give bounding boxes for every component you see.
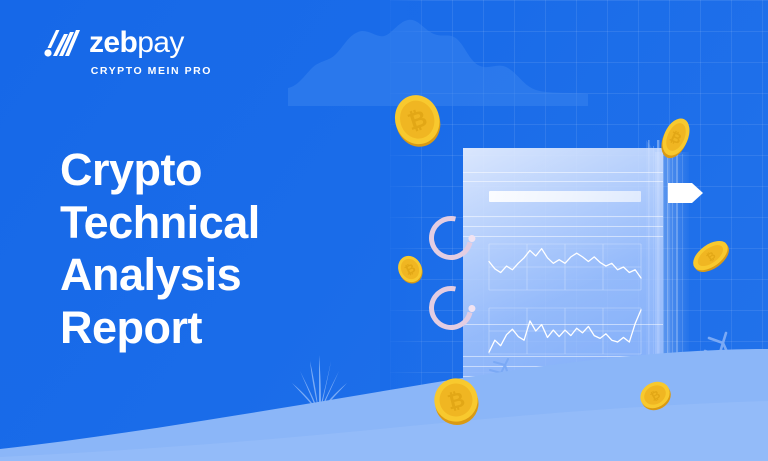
- zebpay-report-banner: ₿ ₿ ₿ ₿ ₿: [0, 0, 768, 461]
- bitcoin-coin-mid-left: ₿: [390, 249, 430, 289]
- upper-trend-chart: [489, 244, 641, 290]
- headline-line-2: Technical: [60, 197, 260, 250]
- document-title-bar: [489, 191, 641, 202]
- headline-line-3: Analysis: [60, 249, 260, 302]
- zebpay-tagline: CRYPTO MEIN PRO: [44, 65, 214, 77]
- cloud-silhouette: [288, 6, 588, 106]
- headline-line-4: Report: [60, 302, 260, 355]
- logo-word-light: pay: [137, 26, 184, 59]
- arrow-tag-icon: [668, 181, 704, 205]
- page-title: Crypto Technical Analysis Report: [60, 144, 260, 355]
- zebpay-logo[interactable]: zebpay CRYPTO MEIN PRO: [44, 28, 214, 77]
- zebpay-wordmark: zebpay: [89, 28, 184, 58]
- headline-line-1: Crypto: [60, 144, 260, 197]
- logo-word-bold: zeb: [89, 26, 137, 59]
- zebpay-slash-mark-icon: [44, 28, 80, 58]
